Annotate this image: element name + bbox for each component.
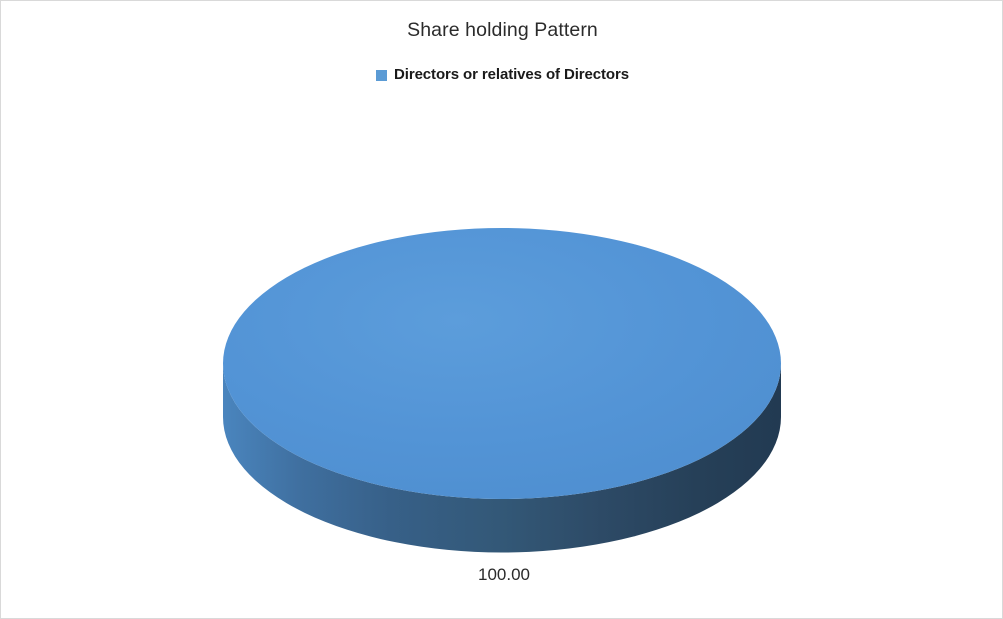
chart-canvas: Share holding Pattern Directors or relat…: [0, 0, 1003, 619]
pie-chart-plot-area: [223, 228, 781, 553]
legend-item-label: Directors or relatives of Directors: [394, 65, 629, 85]
pie-slice-directors-or-relatives-of-directors[interactable]: [223, 228, 781, 499]
legend-swatch-icon: [376, 70, 387, 81]
pie-data-label: 100.00: [404, 564, 604, 585]
legend-item-directors-or-relatives-of-directors[interactable]: Directors or relatives of Directors: [376, 65, 629, 85]
pie-chart-svg: [223, 228, 781, 553]
chart-legend: Directors or relatives of Directors: [1, 65, 1003, 85]
chart-title: Share holding Pattern: [1, 18, 1003, 42]
